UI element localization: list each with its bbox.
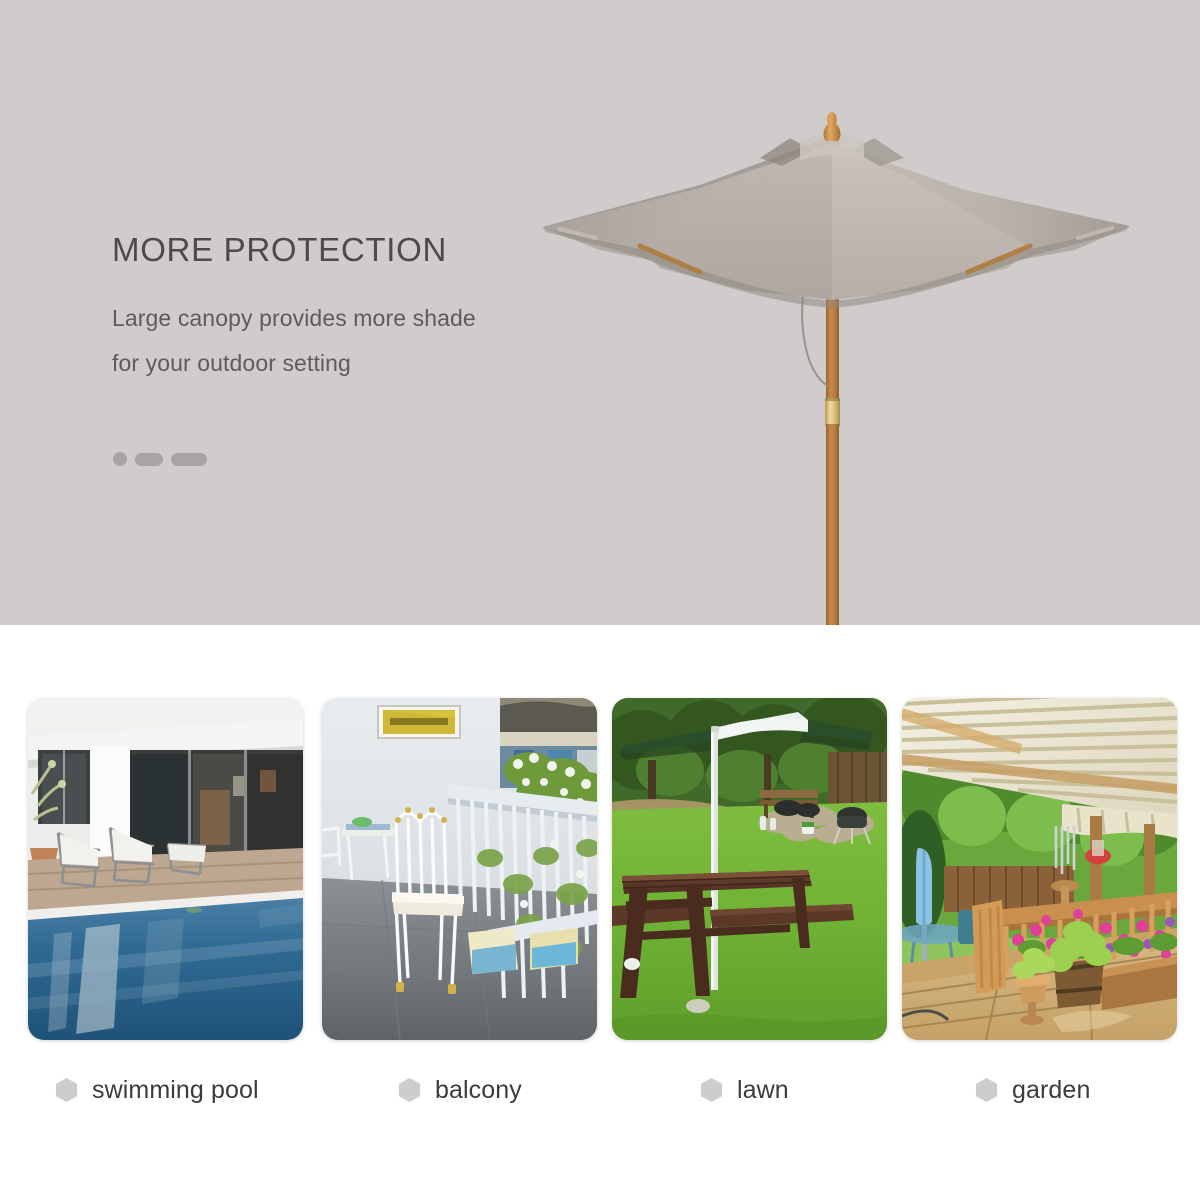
caption-lawn: lawn [700,1068,789,1112]
caption-balcony: balcony [398,1068,522,1112]
umbrella-collar [825,398,840,427]
canopy-rib-right [968,246,1030,272]
caption-garden: garden [975,1068,1090,1112]
canopy-panel-center-left [640,146,832,300]
canopy-panel-right [832,143,1130,248]
usage-scene-gallery [0,698,1200,1040]
hero-subtitle-line-2: for your outdoor setting [112,341,582,386]
umbrella-cord [802,230,828,386]
hexagon-icon [398,1077,421,1103]
thumbnail-lawn[interactable] [612,698,887,1040]
caption-swimming-pool: swimming pool [55,1068,259,1112]
hexagon-icon [700,1077,723,1103]
umbrella-finial [824,112,841,141]
hexagon-icon [975,1077,998,1103]
thumbnail-balcony[interactable] [322,698,597,1040]
canopy-panel-center-right [832,146,1030,300]
product-feature-page: MORE PROTECTION Large canopy provides mo… [0,0,1200,1200]
canopy-edge [543,226,1130,308]
umbrella-lower-pole [826,424,839,625]
canopy-rib-left [640,246,700,272]
umbrella-upper-pole [826,138,839,404]
canopy-panel-left [543,143,832,248]
hero-copy-block: MORE PROTECTION Large canopy provides mo… [112,232,582,386]
caption-label: garden [1012,1076,1090,1105]
pip-dot-icon [113,452,127,466]
hero-panel: MORE PROTECTION Large canopy provides mo… [0,0,1200,625]
hero-subtitle-line-1: Large canopy provides more shade [112,296,582,341]
pip-short-bar-icon [135,453,163,466]
page-title: MORE PROTECTION [112,232,582,268]
gallery-captions: swimming pool balcony lawn garden [0,1068,1200,1128]
pip-long-bar-icon [171,453,207,466]
caption-label: balcony [435,1076,522,1105]
hexagon-icon [55,1077,78,1103]
caption-label: lawn [737,1076,789,1105]
thumbnail-swimming-pool[interactable] [28,698,303,1040]
thumbnail-garden[interactable] [902,698,1177,1040]
caption-label: swimming pool [92,1076,259,1105]
decorative-pips [113,452,207,466]
